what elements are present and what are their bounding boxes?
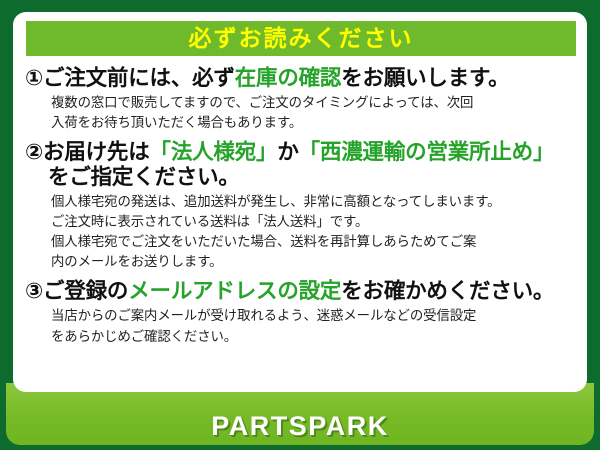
notice-item-1-body: 複数の窓口で販売してますので、ご注文のタイミングによっては、次回 入荷をお待ち頂…: [25, 93, 575, 133]
notice-item-3-heading-highlight: メールアドレスの設定: [128, 279, 341, 303]
notice-item-1-heading-highlight: 在庫の確認: [235, 66, 342, 90]
notice-item-1-heading: ①ご注文前には、必ず在庫の確認をお願いします。: [25, 66, 575, 91]
notice-title-bar: 必ずお読みください: [26, 21, 576, 56]
notice-item-2-marker: ②: [25, 140, 43, 164]
notice-item-2-body-line-3: 個人様宅宛でご注文をいただいた場合、送料を再計算しあらためてご案: [51, 232, 575, 252]
notice-item-1-marker: ①: [25, 66, 43, 90]
notice-item-1-body-line-2: 入荷をお待ち頂いただく場合もあります。: [51, 113, 575, 133]
notice-content: ①ご注文前には、必ず在庫の確認をお願いします。 複数の窓口で販売してますので、ご…: [13, 56, 587, 347]
notice-item-1-heading-part-1: ご注文前には、必ず: [43, 66, 235, 90]
notice-item-3-body: 当店からのご案内メールが受け取れるよう、迷惑メールなどの受信設定 をあらかじめご…: [25, 306, 575, 346]
notice-item-1-body-line-1: 複数の窓口で販売してますので、ご注文のタイミングによっては、次回: [51, 93, 575, 113]
notice-item-3-heading-part-3: をお確かめください。: [341, 279, 554, 303]
notice-item-3: ③ご登録のメールアドレスの設定をお確かめください。 当店からのご案内メールが受け…: [25, 279, 575, 346]
notice-banner: PARTSPARK 必ずお読みください ①ご注文前には、必ず在庫の確認をお願いし…: [0, 0, 600, 450]
notice-item-2: ②お届け先は「法人様宛」か「西濃運輸の営業所止め」 をご指定ください。 個人様宅…: [25, 140, 575, 272]
notice-item-2-body-line-2: ご注文時に表示されている送料は「法人送料」です。: [51, 212, 575, 232]
notice-panel: 必ずお読みください ①ご注文前には、必ず在庫の確認をお願いします。 複数の窓口で…: [13, 12, 587, 392]
notice-item-3-heading: ③ご登録のメールアドレスの設定をお確かめください。: [25, 279, 575, 304]
notice-item-3-heading-part-1: ご登録の: [43, 279, 128, 303]
notice-item-2-heading-highlight-2: 「西濃運輸の営業所止め」: [299, 140, 555, 164]
notice-item-2-body-line-1: 個人様宅宛の発送は、追加送料が発生し、非常に高額となってしまいます。: [51, 192, 575, 212]
brand-logo: PARTSPARK: [0, 411, 600, 442]
notice-item-1: ①ご注文前には、必ず在庫の確認をお願いします。 複数の窓口で販売してますので、ご…: [25, 66, 575, 133]
notice-item-2-heading-part-3: か: [277, 140, 298, 164]
notice-title: 必ずお読みください: [189, 27, 414, 50]
notice-item-3-marker: ③: [25, 279, 43, 303]
notice-item-3-body-line-2: をあらかじめご確認ください。: [51, 327, 575, 347]
notice-item-1-heading-part-3: をお願いします。: [341, 66, 509, 90]
notice-item-2-heading-line-2: をご指定ください。: [25, 165, 575, 190]
notice-item-2-body: 個人様宅宛の発送は、追加送料が発生し、非常に高額となってしまいます。 ご注文時に…: [25, 192, 575, 272]
notice-item-2-heading-part-1: お届け先は: [43, 140, 150, 164]
notice-item-2-body-line-4: 内のメールをお送りします。: [51, 252, 575, 272]
notice-item-2-heading-highlight-1: 「法人様宛」: [150, 140, 278, 164]
notice-item-3-body-line-1: 当店からのご案内メールが受け取れるよう、迷惑メールなどの受信設定: [51, 306, 575, 326]
notice-item-2-heading: ②お届け先は「法人様宛」か「西濃運輸の営業所止め」: [25, 140, 575, 165]
